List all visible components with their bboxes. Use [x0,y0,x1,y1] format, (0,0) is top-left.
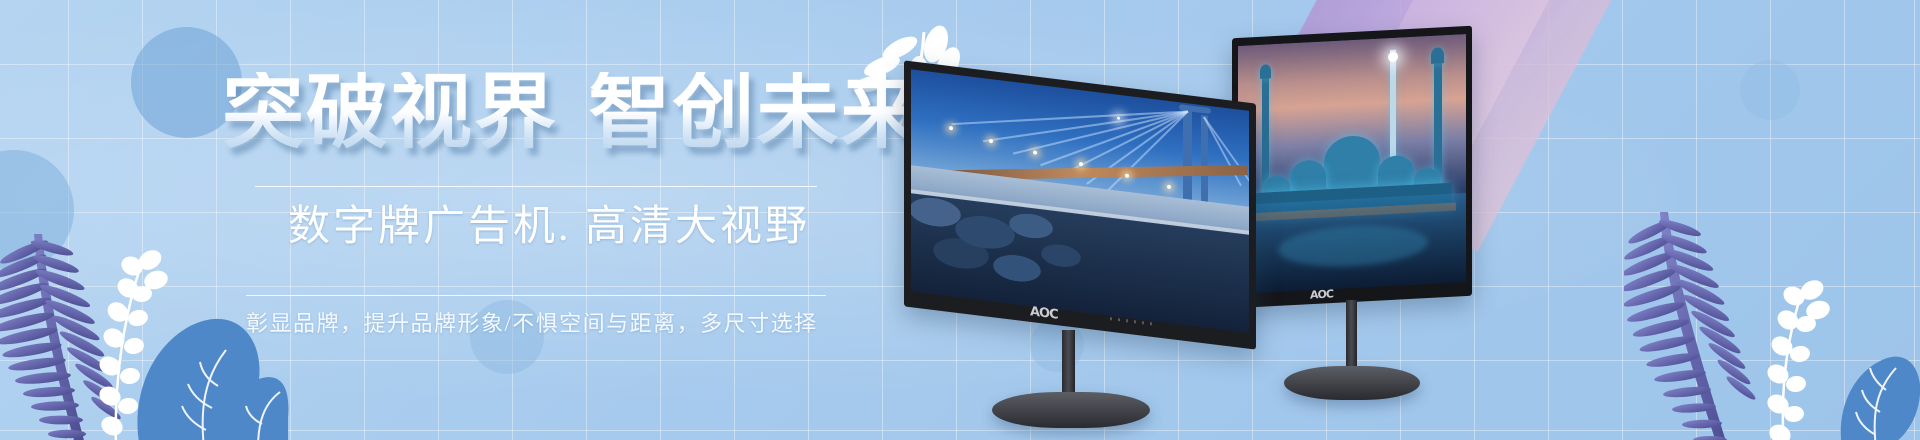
page-title: 突破视界 智创未来 [222,72,925,154]
monitor-rear-logo: AOC [1310,287,1333,301]
divider-top [255,186,817,187]
tagline: 彰显品牌，提升品牌形象/不惧空间与距离，多尺寸选择 [246,306,866,338]
product-monitors: AOC [880,0,1640,440]
divider-bottom [246,295,826,296]
subtitle: 数字牌广告机. 高清大视野 [288,192,808,253]
copy-block: 突破视界 智创未来 数字牌广告机. 高清大视野 彰显品牌，提升品牌形象/不惧空间… [0,0,900,440]
monitor-rear-base [1284,366,1420,400]
promo-banner: 突破视界 智创未来 数字牌广告机. 高清大视野 彰显品牌，提升品牌形象/不惧空间… [0,0,1920,440]
circle-top-right [1740,60,1800,120]
foliage-bottom-right [1624,198,1920,440]
monitor-front-base [992,392,1150,428]
